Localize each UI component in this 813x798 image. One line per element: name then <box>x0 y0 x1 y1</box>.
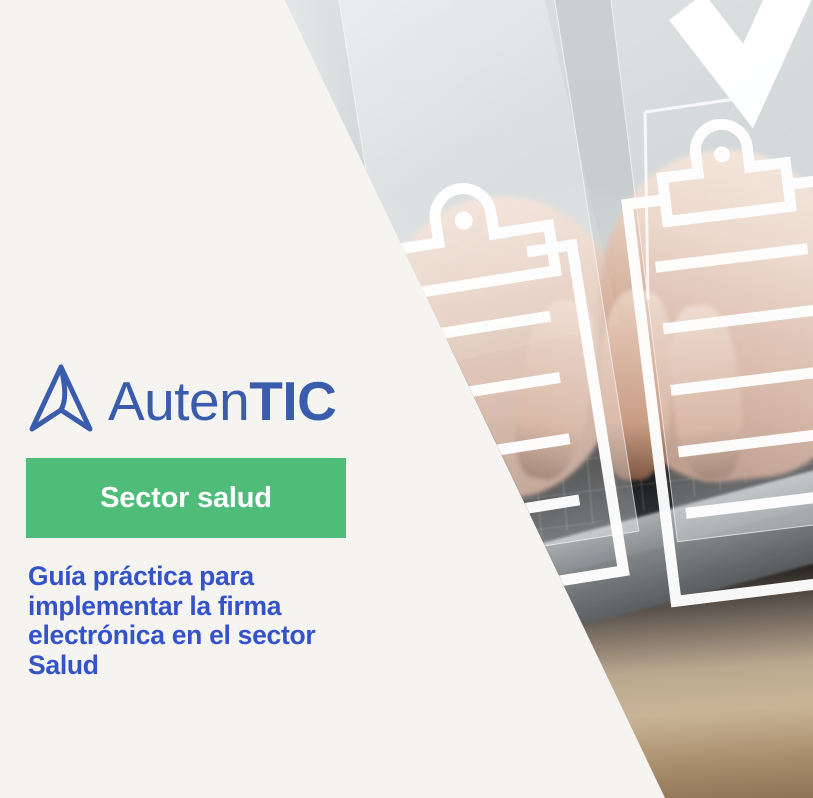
cover-content: AutenTIC Sector salud Guía práctica para… <box>26 0 356 798</box>
brand-wordmark: AutenTIC <box>108 374 336 429</box>
cover-subtitle: Guía práctica para implementar la firma … <box>28 562 348 681</box>
sector-badge-label: Sector salud <box>100 482 272 515</box>
autentic-arrow-logo-icon <box>26 363 96 435</box>
brand-lockup: AutenTIC <box>26 361 336 437</box>
sector-badge: Sector salud <box>26 458 346 538</box>
brand-name-light: Auten <box>108 370 249 432</box>
cover-page: AutenTIC Sector salud Guía práctica para… <box>0 0 813 798</box>
brand-name-bold: TIC <box>249 370 336 432</box>
